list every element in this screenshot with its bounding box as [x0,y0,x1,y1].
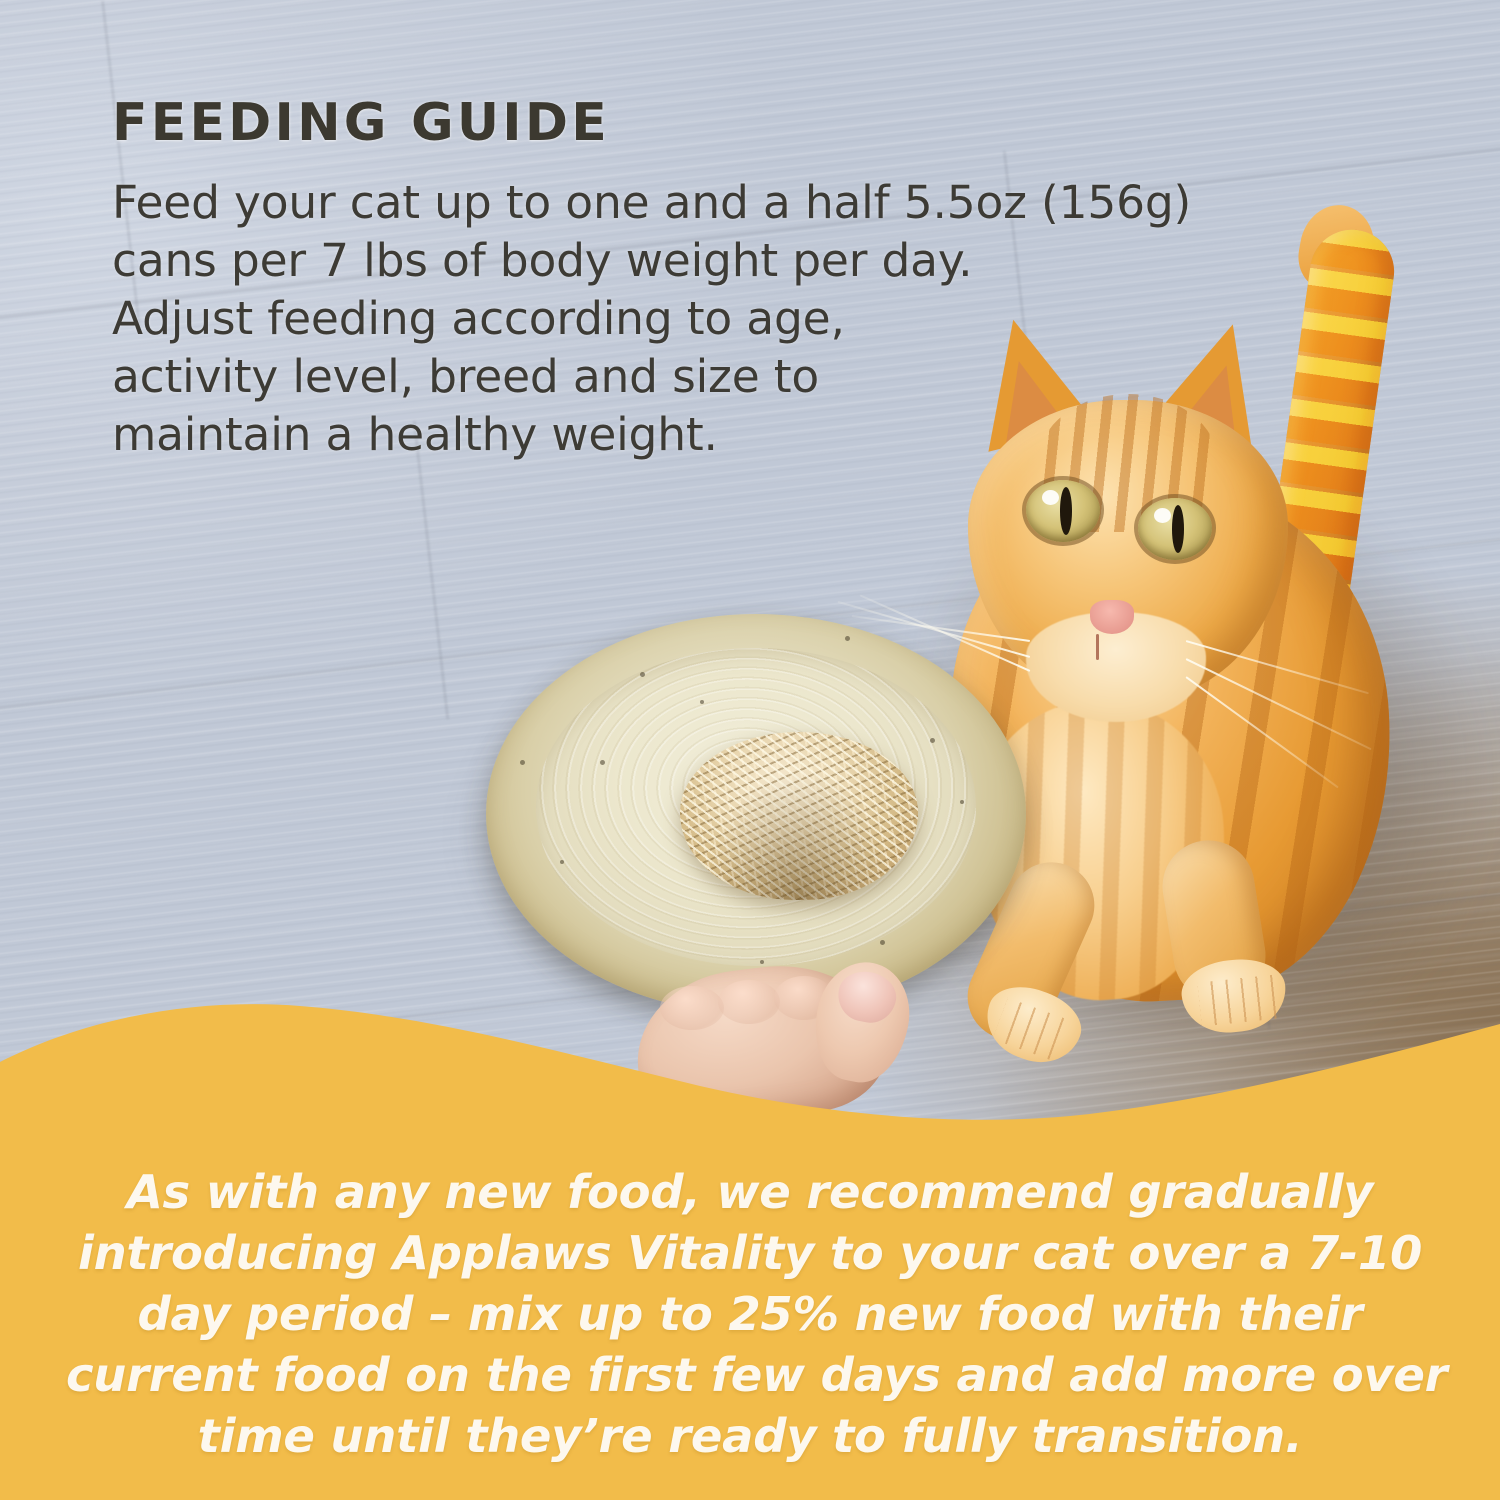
banner-line: As with any new food, we recommend gradu… [66,1162,1434,1223]
hand-knuckle [660,986,724,1030]
body-line: cans per 7 lbs of body weight per day. [112,232,1342,290]
cat-eye-glint-left [1042,490,1059,505]
plate-speckle [930,738,935,743]
page-title: FEEDING GUIDE [112,96,1342,151]
cat-eye-right [1138,498,1212,560]
body-line: maintain a healthy weight. [112,406,1342,464]
banner-line: current food on the first few days and a… [66,1345,1434,1406]
plate-speckle [760,960,764,964]
plate-speckle [600,760,605,765]
body-line: Feed your cat up to one and a half 5.5oz… [112,174,1342,232]
plate-speckle [700,700,704,704]
feeding-guide-panel: As with any new food, we recommend gradu… [0,0,1500,1500]
body-line: activity level, breed and size to [112,348,1342,406]
cat-eye-left [1026,480,1100,542]
plate-speckle [560,860,564,864]
feeding-instructions: Feed your cat up to one and a half 5.5oz… [112,174,1342,464]
transition-advice-text: As with any new food, we recommend gradu… [0,1162,1500,1467]
cat-nose [1090,600,1134,634]
plate-speckle [960,800,964,804]
plate-speckle [520,760,525,765]
cat-mouth [1096,634,1099,660]
banner-line: time until they’re ready to fully transi… [66,1406,1434,1467]
plate-speckle [845,636,850,641]
body-line: Adjust feeding according to age, [112,290,1342,348]
cat-pupil-left [1060,487,1072,534]
feeding-guide-copy: FEEDING GUIDE Feed your cat up to one an… [112,96,1342,464]
cat-pupil-right [1172,505,1184,552]
cat-eye-glint-right [1154,508,1171,523]
banner-line: day period – mix up to 25% new food with… [66,1284,1434,1345]
plate-speckle [880,940,885,945]
banner-line: introducing Applaws Vitality to your cat… [66,1223,1434,1284]
shredded-chicken-food [680,732,918,900]
plate-speckle [640,672,645,677]
hand-knuckle [718,980,780,1024]
